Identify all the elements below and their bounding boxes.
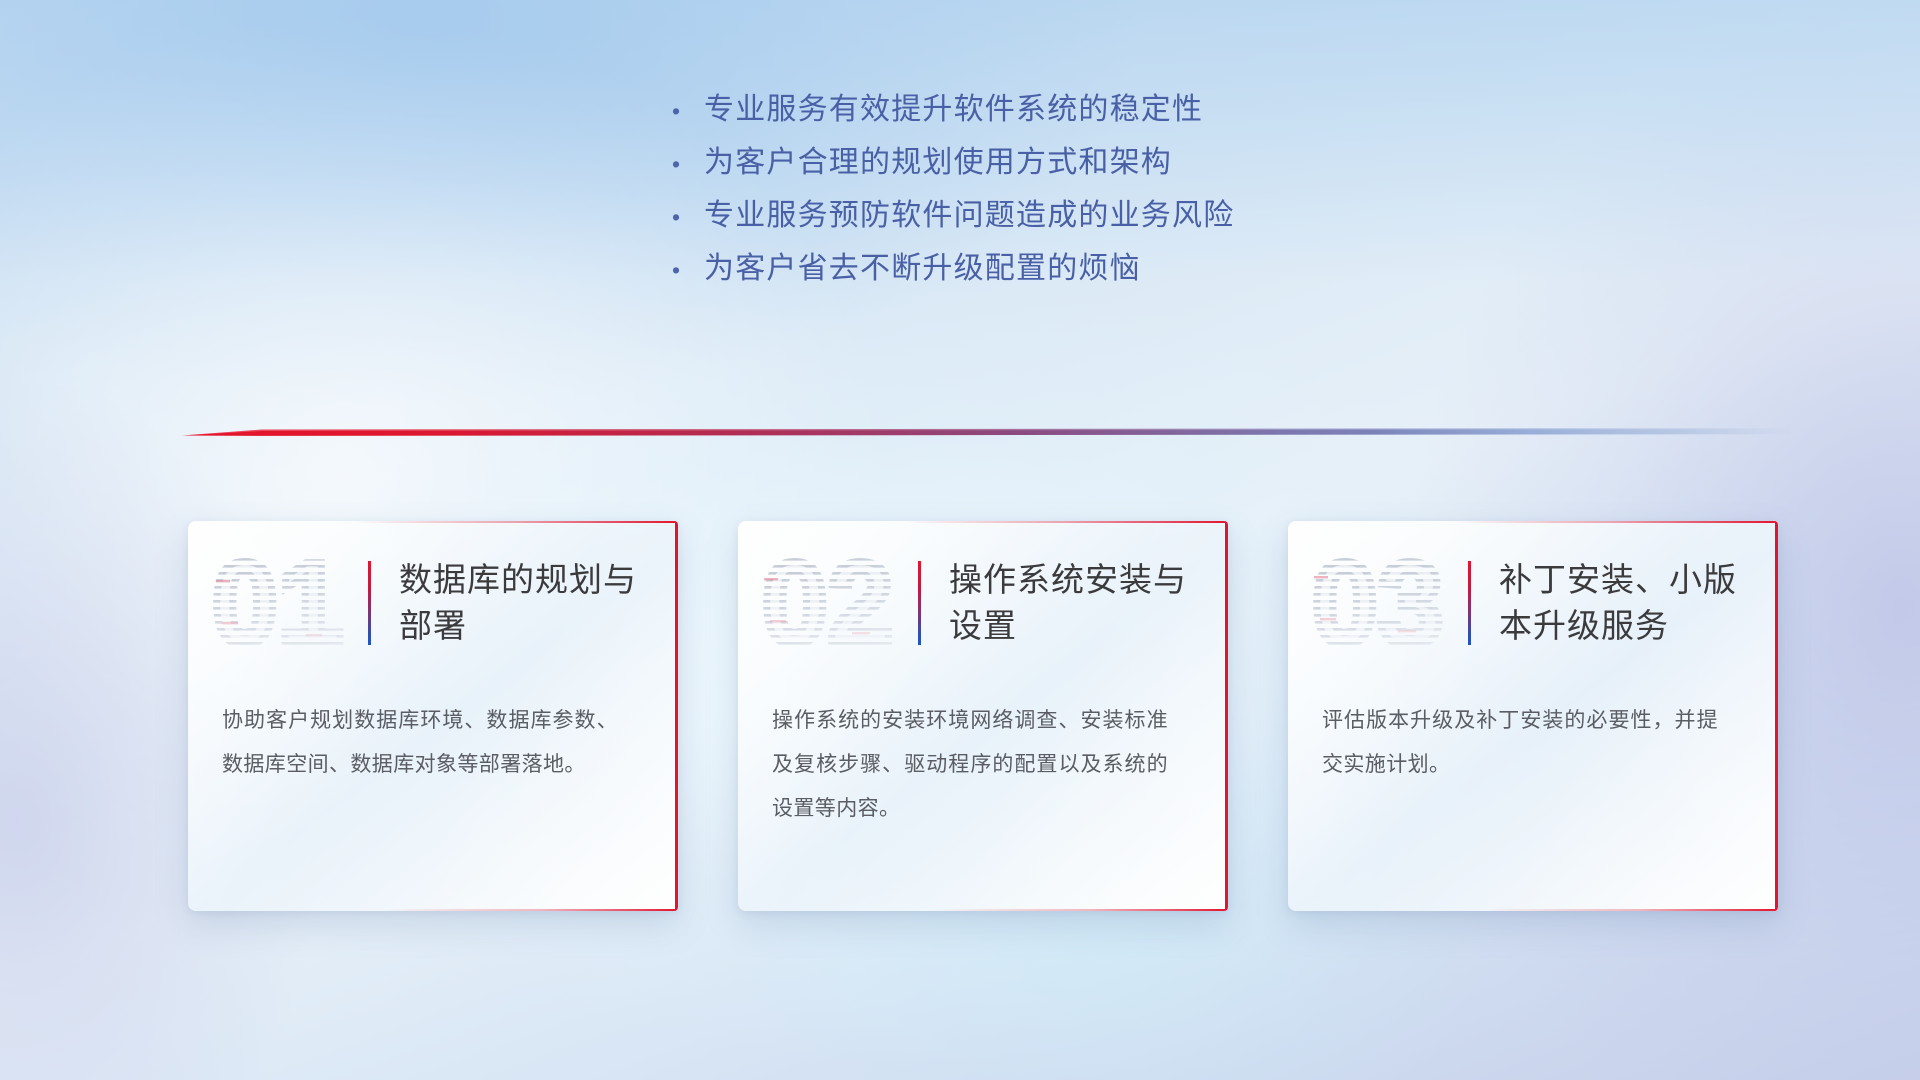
service-card-02[interactable]: 02 02 操作系统安装与设置 操作系统的安装环境网络调查、安装标准及复核步骤、… bbox=[738, 521, 1228, 911]
card-title-accent-bar bbox=[368, 561, 371, 645]
card-description: 协助客户规划数据库环境、数据库参数、数据库空间、数据库对象等部署落地。 bbox=[222, 699, 618, 787]
card-title-accent-bar bbox=[918, 561, 921, 645]
svg-text:01: 01 bbox=[212, 544, 343, 662]
service-card-01[interactable]: 01 01 数据库的规划与部署 协助客户规划数据库环境、数据库参数、数据库空间、… bbox=[188, 521, 678, 911]
card-top-accent bbox=[1288, 521, 1778, 523]
card-top-accent bbox=[188, 521, 678, 523]
card-title: 补丁安装、小版本升级服务 bbox=[1499, 557, 1761, 649]
card-description: 操作系统的安装环境网络调查、安装标准及复核步骤、驱动程序的配置以及系统的设置等内… bbox=[772, 699, 1168, 831]
card-bottom-accent bbox=[188, 909, 678, 911]
service-card-03[interactable]: 03 03 补丁安装、小版本升级服务 评估版本升级及补丁安装的必要性，并提交实施… bbox=[1288, 521, 1778, 911]
card-header: 03 03 补丁安装、小版本升级服务 bbox=[1288, 535, 1778, 671]
service-card-group: 01 01 数据库的规划与部署 协助客户规划数据库环境、数据库参数、数据库空间、… bbox=[0, 0, 1920, 1080]
card-header: 02 02 操作系统安装与设置 bbox=[738, 535, 1228, 671]
card-bottom-accent bbox=[738, 909, 1228, 911]
ghost-number-02: 02 02 bbox=[760, 544, 910, 662]
card-header: 01 01 数据库的规划与部署 bbox=[188, 535, 678, 671]
svg-text:03: 03 bbox=[1312, 544, 1443, 662]
ghost-number-01: 01 01 bbox=[210, 544, 360, 662]
card-description: 评估版本升级及补丁安装的必要性，并提交实施计划。 bbox=[1322, 699, 1718, 787]
svg-text:02: 02 bbox=[762, 544, 893, 662]
card-title: 操作系统安装与设置 bbox=[949, 557, 1211, 649]
card-title-accent-bar bbox=[1468, 561, 1471, 645]
card-title: 数据库的规划与部署 bbox=[399, 557, 661, 649]
ghost-number-03: 03 03 bbox=[1310, 544, 1460, 662]
card-top-accent bbox=[738, 521, 1228, 523]
card-bottom-accent bbox=[1288, 909, 1778, 911]
